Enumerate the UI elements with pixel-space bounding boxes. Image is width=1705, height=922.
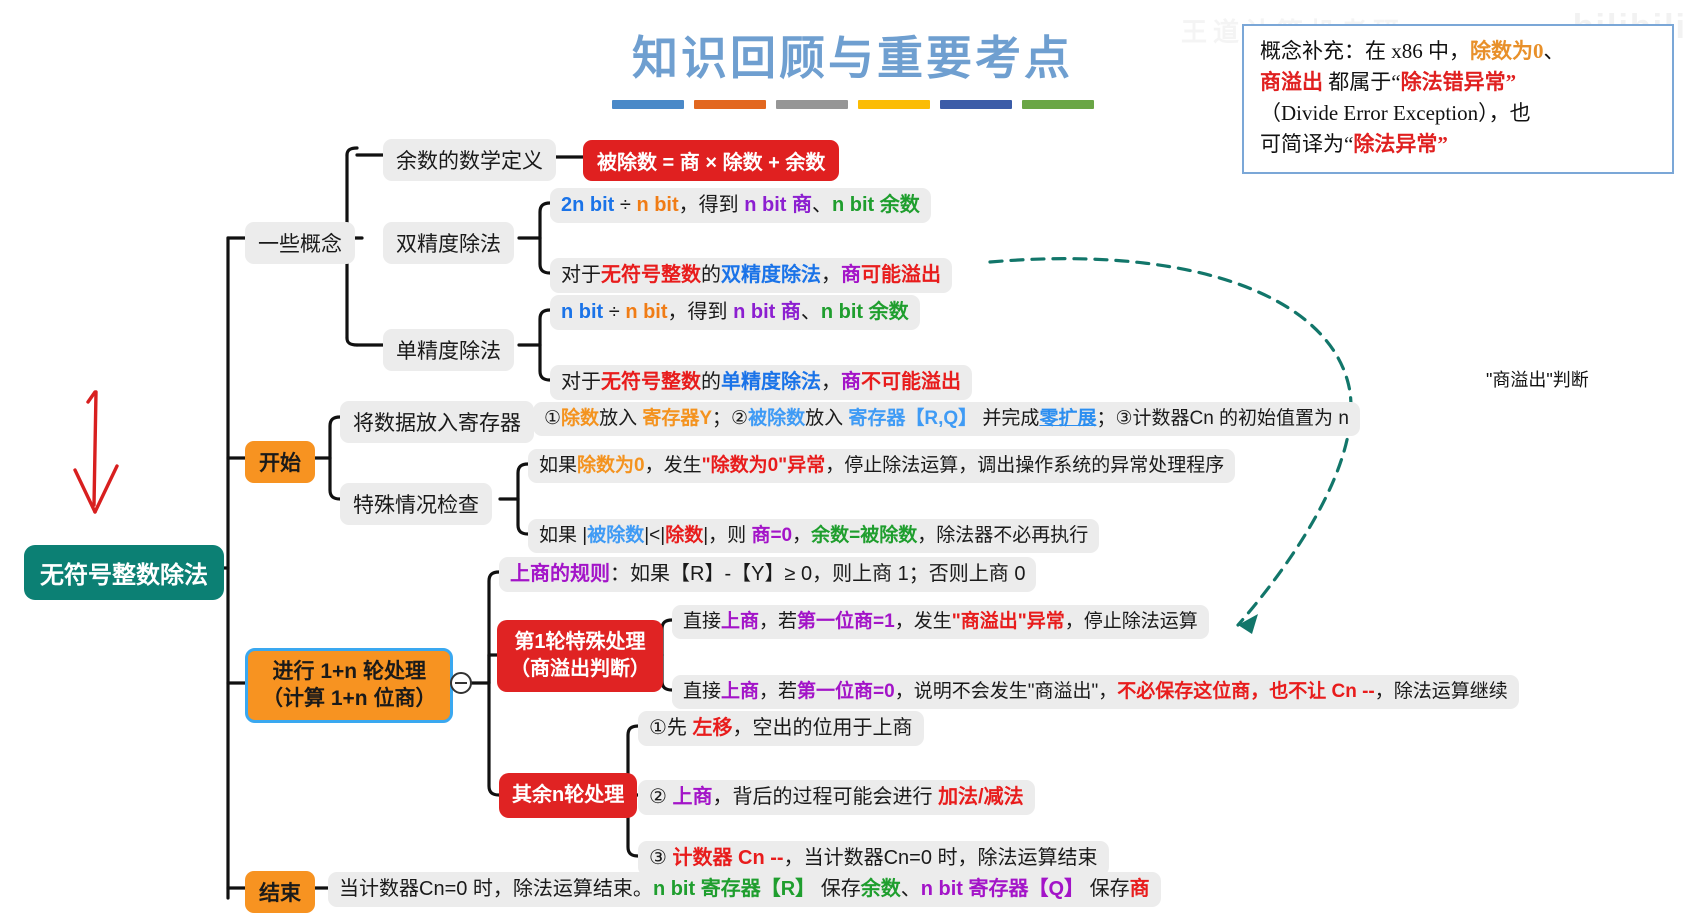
node-other-rounds[interactable]: 其余n轮处理 (499, 773, 637, 818)
topic-rounds-line1: 进行 1+n 轮处理 (262, 658, 436, 685)
node-single-precision-row-2: 对于无符号整数的单精度除法，商不可能溢出 (550, 365, 972, 400)
collapse-toggle-rounds[interactable] (450, 672, 472, 694)
node-remainder-definition[interactable]: 余数的数学定义 (383, 139, 556, 181)
concept-note-box: 概念补充：在 x86 中，除数为0、 商溢出 都属于“除法错异常” （Divid… (1242, 24, 1674, 174)
node-double-precision-row-2: 对于无符号整数的双精度除法，商可能溢出 (550, 258, 952, 293)
topic-rounds[interactable]: 进行 1+n 轮处理 （计算 1+n 位商） (245, 648, 453, 723)
first-round-line2: （商溢出判断） (510, 656, 650, 683)
node-single-precision-division[interactable]: 单精度除法 (383, 329, 514, 371)
node-special-case-row-1: 如果除数为0，发生"除数为0"异常，停止除法运算，调出操作系统的异常处理程序 (528, 449, 1235, 483)
first-round-line1: 第1轮特殊处理 (510, 629, 650, 656)
node-other-rounds-row-1: ①先 左移，空出的位用于上商 (638, 711, 924, 746)
node-load-registers-detail: ①除数放入 寄存器Y；②被除数放入 寄存器【R,Q】 并完成零扩展；③计数器Cn… (533, 402, 1360, 436)
node-single-precision-row-1: n bit ÷ n bit，得到 n bit 商、n bit 余数 (550, 295, 920, 330)
node-double-precision-division[interactable]: 双精度除法 (383, 222, 514, 264)
node-other-rounds-row-3: ③ 计数器 Cn --，当计数器Cn=0 时，除法运算结束 (638, 841, 1109, 876)
node-end-detail: 当计数器Cn=0 时，除法运算结束。n bit 寄存器【R】 保存余数、n bi… (328, 872, 1161, 907)
node-load-registers[interactable]: 将数据放入寄存器 (340, 401, 534, 443)
node-special-case-row-2: 如果 |被除数|<|除数|，则 商=0，余数=被除数，除法器不必再执行 (528, 519, 1099, 553)
topic-start[interactable]: 开始 (245, 441, 315, 483)
root-node[interactable]: 无符号整数除法 (24, 545, 224, 600)
node-remainder-formula: 被除数 = 商 × 除数 + 余数 (583, 140, 839, 181)
note-line-1: 概念补充：在 x86 中，除数为0、 (1260, 36, 1658, 67)
node-first-round-row-2: 直接上商，若第一位商=0，说明不会发生"商溢出"，不必保存这位商，也不让 Cn … (672, 675, 1519, 709)
node-first-round-row-1: 直接上商，若第一位商=1，发生"商溢出"异常，停止除法运算 (672, 605, 1209, 639)
node-special-case-check[interactable]: 特殊情况检查 (340, 483, 492, 525)
node-double-precision-row-1: 2n bit ÷ n bit，得到 n bit 商、n bit 余数 (550, 188, 931, 223)
callout-label-overflow-check: "商溢出"判断 (1486, 366, 1589, 392)
node-quotient-rule: 上商的规则：如果【R】-【Y】≥ 0，则上商 1；否则上商 0 (499, 557, 1036, 592)
topic-rounds-line2: （计算 1+n 位商） (262, 685, 436, 712)
note-line-3: （Divide Error Exception），也 (1260, 98, 1658, 129)
note-line-2: 商溢出 都属于“除法错异常” (1260, 67, 1658, 98)
topic-end[interactable]: 结束 (245, 871, 315, 913)
node-other-rounds-row-2: ② 上商，背后的过程可能会进行 加法/减法 (638, 780, 1035, 815)
note-line-4: 可简译为“除法异常” (1260, 129, 1658, 160)
topic-concepts[interactable]: 一些概念 (245, 222, 355, 264)
node-first-round-special[interactable]: 第1轮特殊处理 （商溢出判断） (497, 620, 663, 692)
